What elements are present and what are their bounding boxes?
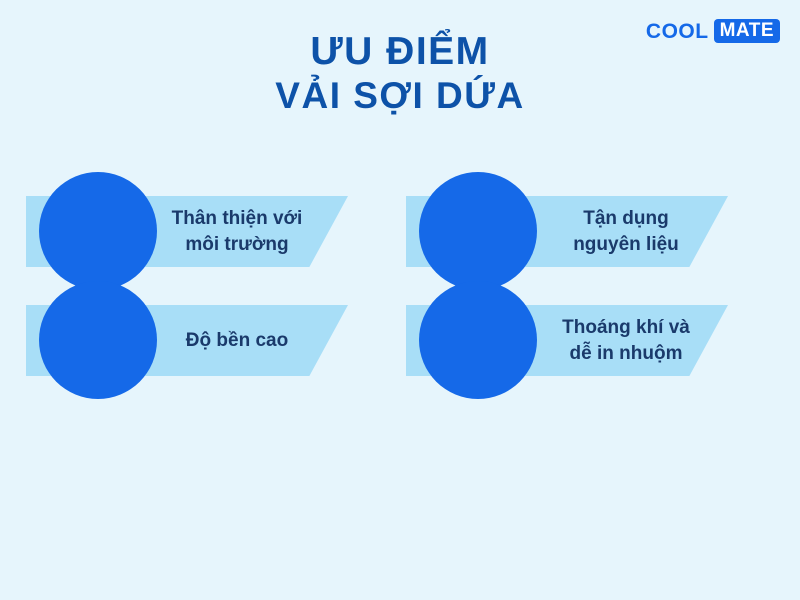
benefit-card: Độ bền cao [26, 281, 348, 401]
benefit-card-label-line-1: Tận dụng [583, 206, 668, 232]
benefit-card: Thân thiện với môi trường [26, 172, 348, 292]
benefit-card-label-line-2: môi trường [185, 232, 288, 258]
benefit-card-label-line-1: Thân thiện với [172, 206, 303, 232]
benefit-card-label-line-1: Thoáng khí và [562, 315, 690, 341]
benefit-circle-icon [419, 281, 537, 399]
benefit-card-label: Thân thiện với môi trường [142, 196, 332, 267]
benefit-card: Tận dụng nguyên liệu [406, 172, 728, 292]
benefit-card-label: Thoáng khí và dễ in nhuộm [526, 305, 726, 376]
page-title: ƯU ĐIỂM VẢI SỢI DỨA [0, 30, 800, 118]
page-title-line-2: VẢI SỢI DỨA [0, 74, 800, 118]
page-title-line-1: ƯU ĐIỂM [0, 30, 800, 74]
benefit-card-label: Độ bền cao [142, 305, 332, 376]
benefit-card-label: Tận dụng nguyên liệu [526, 196, 726, 267]
infographic-canvas: COOL MATE ƯU ĐIỂM VẢI SỢI DỨA Thân thiện… [0, 0, 800, 600]
benefit-card-label-line-2: nguyên liệu [573, 232, 679, 258]
benefit-circle-icon [419, 172, 537, 290]
benefit-circle-icon [39, 172, 157, 290]
benefit-card: Thoáng khí và dễ in nhuộm [406, 281, 728, 401]
benefit-card-label-line-2: dễ in nhuộm [570, 341, 683, 367]
benefit-circle-icon [39, 281, 157, 399]
benefit-card-label-line-1: Độ bền cao [186, 328, 288, 354]
